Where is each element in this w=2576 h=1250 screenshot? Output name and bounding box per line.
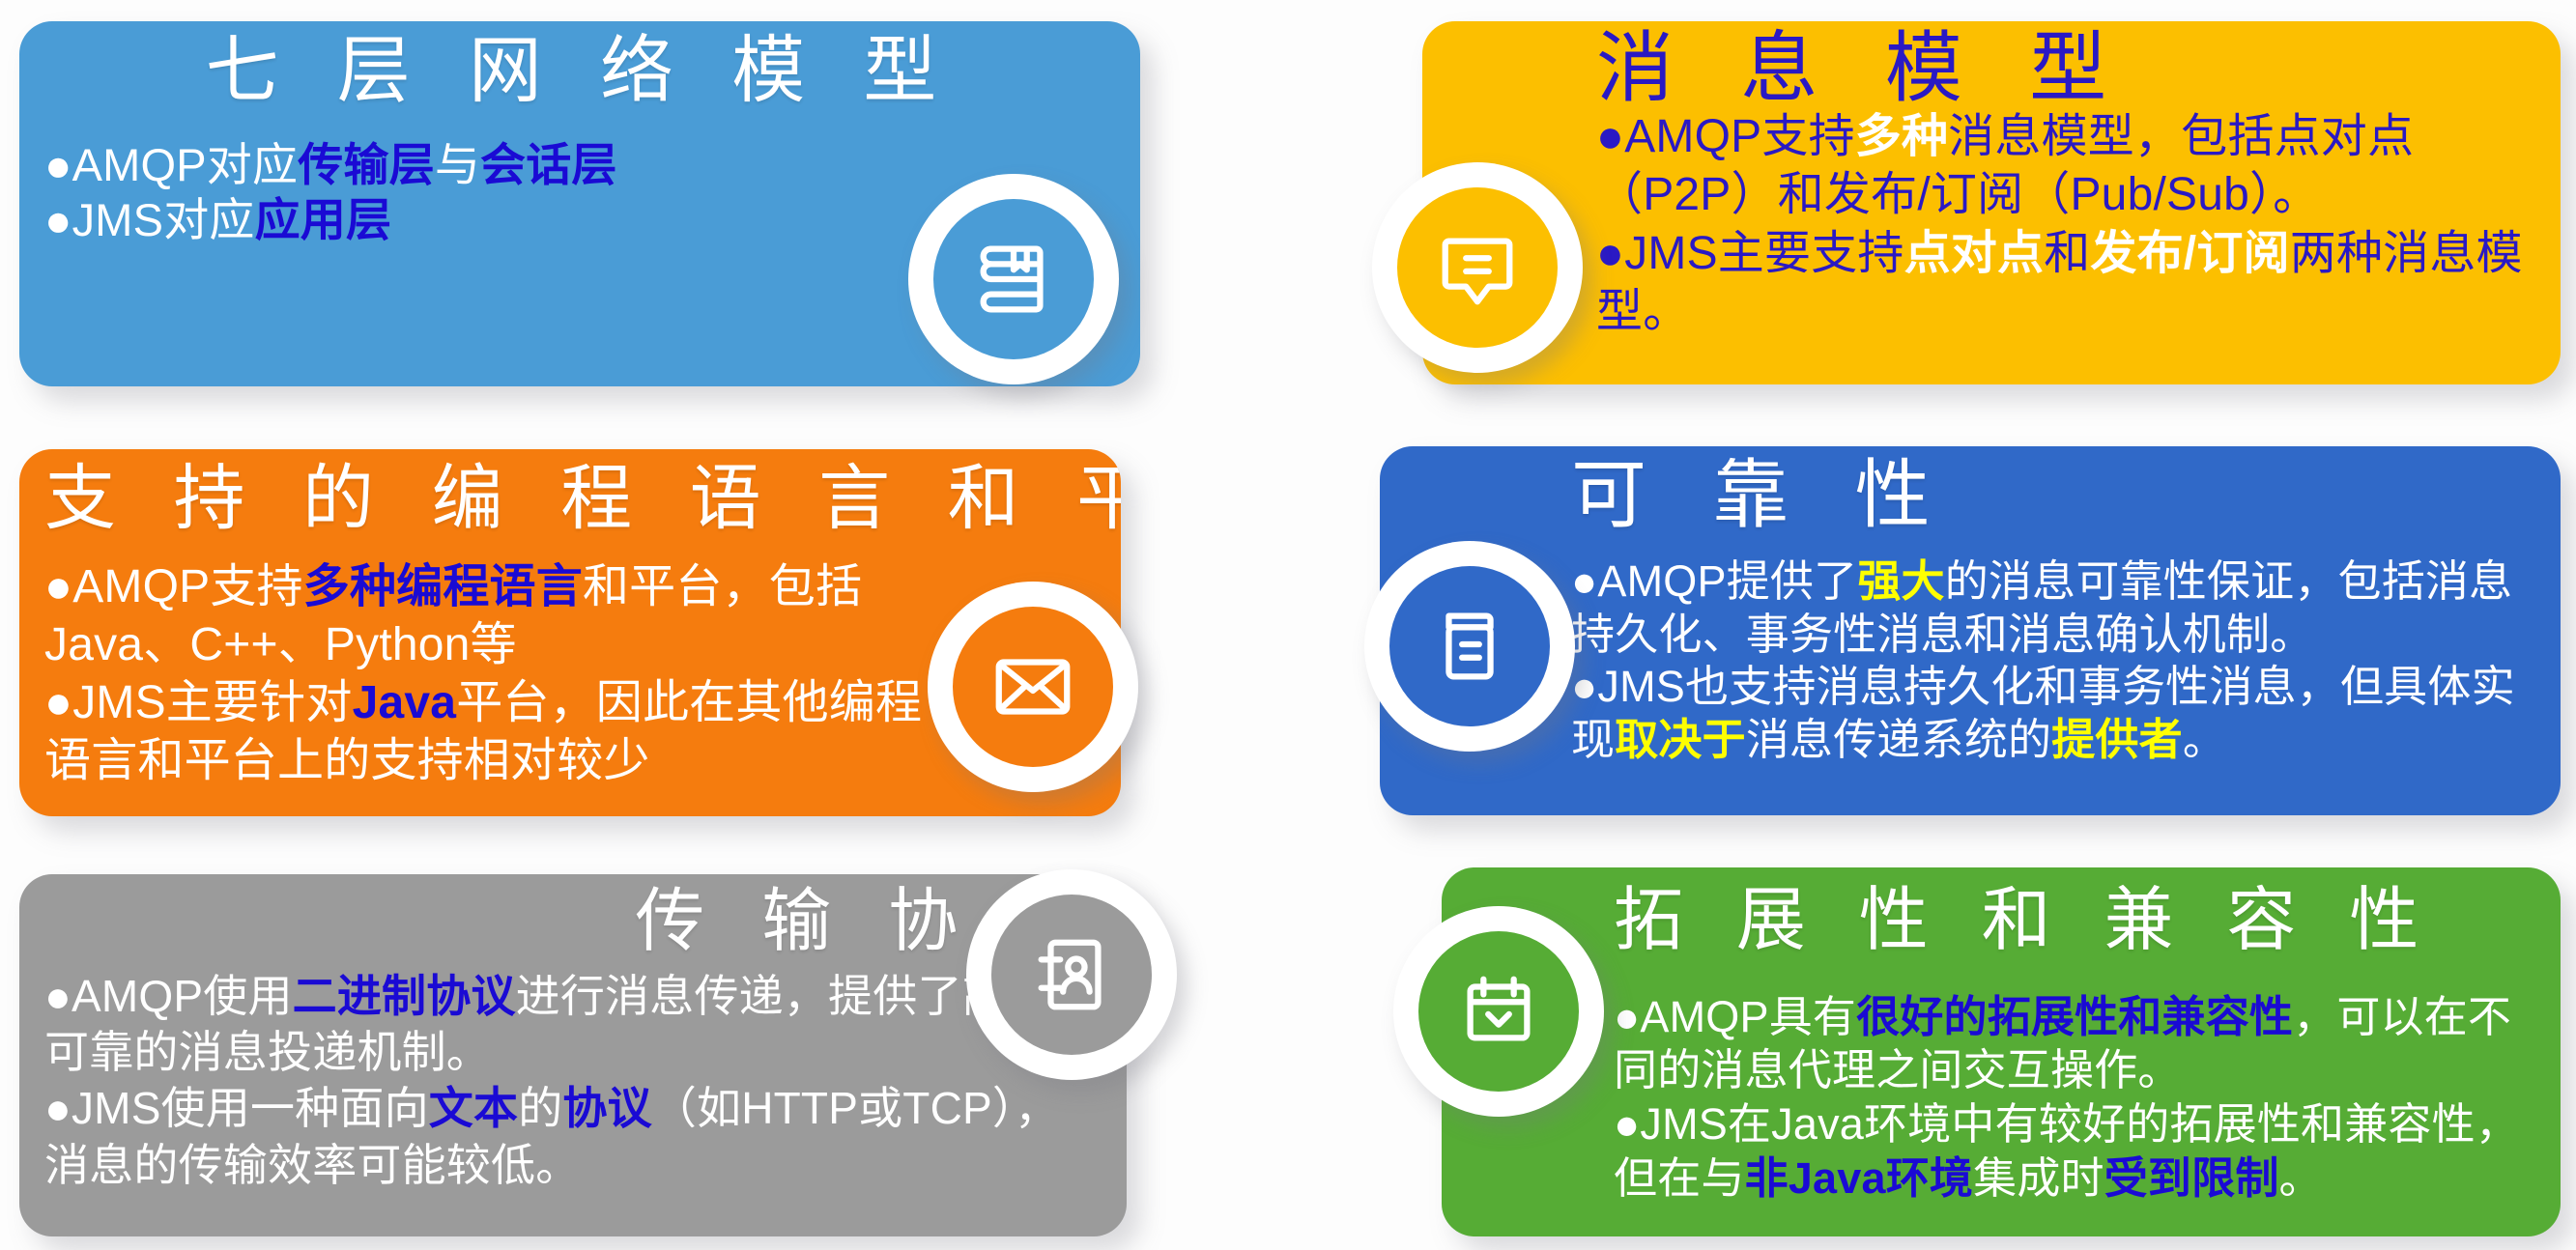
highlighted-text: 会话层 <box>480 139 617 190</box>
card-body: ●AMQP使用二进制协议进行消息传递，提供了高效、可靠的消息投递机制。●JMS使… <box>44 968 1102 1194</box>
bullet-line: ●JMS主要针对Java平台，因此在其他编程语言和平台上的支持相对较少 <box>44 674 951 790</box>
badge-book[interactable] <box>908 174 1119 384</box>
body-text: ●JMS主要支持 <box>1596 228 1904 279</box>
body-text: ●JMS主要针对 <box>44 677 353 728</box>
card-title: 拓 展 性 和 兼 容 性 <box>1614 881 2535 959</box>
body-text: ●AMQP支持 <box>1596 111 1855 162</box>
badge-disc <box>953 607 1113 767</box>
highlighted-text: 多种编程语言 <box>303 561 583 612</box>
badge-disc <box>1389 566 1550 726</box>
body-text: ●JMS对应 <box>44 194 255 245</box>
highlighted-text: 多种 <box>1855 111 1948 162</box>
highlighted-text: 强大 <box>1857 556 1944 606</box>
bullet-line: ●JMS使用一种面向文本的协议（如HTTP或TCP），消息的传输效率可能较低。 <box>44 1080 1102 1193</box>
highlighted-text: 点对点 <box>1904 228 2045 279</box>
body-text: ●AMQP对应 <box>44 139 298 190</box>
card-content: 消 息 模 型 ●AMQP支持多种消息模型，包括点对点（P2P）和发布/订阅（P… <box>1422 21 2561 384</box>
badge-envelope[interactable] <box>928 582 1138 792</box>
body-text: ●AMQP提供了 <box>1571 556 1857 606</box>
body-text: ●JMS使用一种面向 <box>44 1083 429 1133</box>
card-title: 可 靠 性 <box>1571 454 2535 538</box>
infographic-canvas: 七 层 网 络 模 型 ●AMQP对应传输层与会话层●JMS对应应用层 消 息 … <box>0 0 2576 1250</box>
highlighted-text: 受到限制 <box>2104 1153 2279 1203</box>
document-icon <box>1424 601 1515 692</box>
speech-bubble-icon <box>1432 222 1523 313</box>
bullet-line: ●AMQP提供了强大的消息可靠性保证，包括消息持久化、事务性消息和消息确认机制。 <box>1571 555 2535 661</box>
highlighted-text: 很好的拓展性和兼容性 <box>1856 992 2293 1041</box>
bullet-line: ●JMS也支持消息持久化和事务性消息，但具体实现取决于消息传递系统的提供者。 <box>1571 661 2535 766</box>
bullet-line: ●AMQP使用二进制协议进行消息传递，提供了高效、可靠的消息投递机制。 <box>44 968 1102 1081</box>
body-text: ●AMQP支持 <box>44 561 303 612</box>
card-content: 传 输 协 议 ●AMQP使用二进制协议进行消息传递，提供了高效、可靠的消息投递… <box>19 874 1127 1236</box>
highlighted-text: 非Java环境 <box>1745 1153 1974 1203</box>
highlighted-text: 文本 <box>429 1083 518 1133</box>
card-title: 七 层 网 络 模 型 <box>44 29 1115 111</box>
bullet-line: ●AMQP具有很好的拓展性和兼容性，可以在不同的消息代理之间交互操作。 <box>1614 990 2535 1098</box>
badge-disc <box>1397 187 1558 348</box>
body-text: 与 <box>435 139 480 190</box>
bullet-line: ●JMS对应应用层 <box>44 193 922 248</box>
highlighted-text: 协议 <box>562 1083 651 1133</box>
book-icon <box>968 234 1059 325</box>
badge-speech-bubble[interactable] <box>1372 162 1583 373</box>
card-body: ●AMQP具有很好的拓展性和兼容性，可以在不同的消息代理之间交互操作。●JMS在… <box>1614 990 2535 1206</box>
bullet-line: ●AMQP支持多种消息模型，包括点对点（P2P）和发布/订阅（Pub/Sub）。 <box>1596 108 2535 225</box>
highlighted-text: Java <box>353 677 457 728</box>
highlighted-text: 应用层 <box>255 194 392 245</box>
bullet-line: ●AMQP对应传输层与会话层 <box>44 138 922 193</box>
highlighted-text: 二进制协议 <box>293 971 516 1021</box>
card-message-model[interactable]: 消 息 模 型 ●AMQP支持多种消息模型，包括点对点（P2P）和发布/订阅（P… <box>1422 21 2561 384</box>
body-text: ●AMQP使用 <box>44 971 293 1021</box>
body-text: 。 <box>2183 715 2226 764</box>
card-title: 支 持 的 编 程 语 言 和 平 台 <box>44 459 1096 539</box>
card-title: 消 息 模 型 <box>1596 25 2535 112</box>
bullet-line: ●AMQP支持多种编程语言和平台，包括Java、C++、Python等 <box>44 558 951 674</box>
body-text: 的 <box>518 1083 562 1133</box>
bullet-line: ●JMS主要支持点对点和发布/订阅两种消息模型。 <box>1596 225 2535 342</box>
badge-disc <box>1418 931 1579 1092</box>
card-title: 传 输 协 议 <box>44 882 1102 960</box>
card-body: ●AMQP提供了强大的消息可靠性保证，包括消息持久化、事务性消息和消息确认机制。… <box>1571 555 2535 766</box>
badge-document[interactable] <box>1364 541 1575 752</box>
card-extensibility-and-compatibility[interactable]: 拓 展 性 和 兼 容 性 ●AMQP具有很好的拓展性和兼容性，可以在不同的消息… <box>1442 867 2561 1236</box>
badge-contact-card[interactable] <box>966 869 1177 1080</box>
body-text: 。 <box>2279 1153 2323 1203</box>
card-content: 拓 展 性 和 兼 容 性 ●AMQP具有很好的拓展性和兼容性，可以在不同的消息… <box>1442 867 2561 1236</box>
bullet-line: ●JMS在Java环境中有较好的拓展性和兼容性，但在与非Java环境集成时受到限… <box>1614 1097 2535 1206</box>
body-text: ●AMQP具有 <box>1614 992 1856 1041</box>
highlighted-text: 取决于 <box>1615 715 1746 764</box>
highlighted-text: 发布/订阅 <box>2090 228 2289 279</box>
body-text: 集成时 <box>1973 1153 2104 1203</box>
calendar-icon <box>1453 966 1544 1057</box>
highlighted-text: 传输层 <box>298 139 435 190</box>
card-transport-protocol[interactable]: 传 输 协 议 ●AMQP使用二进制协议进行消息传递，提供了高效、可靠的消息投递… <box>19 874 1127 1236</box>
card-body: ●AMQP支持多种消息模型，包括点对点（P2P）和发布/订阅（Pub/Sub）。… <box>1596 108 2535 342</box>
envelope-icon <box>987 641 1078 732</box>
badge-disc <box>991 895 1152 1055</box>
body-text: 消息传递系统的 <box>1746 715 2051 764</box>
highlighted-text: 提供者 <box>2051 715 2183 764</box>
badge-disc <box>933 199 1094 359</box>
badge-calendar[interactable] <box>1393 906 1604 1117</box>
body-text: 和 <box>2044 228 2090 279</box>
contact-card-icon <box>1026 929 1117 1020</box>
